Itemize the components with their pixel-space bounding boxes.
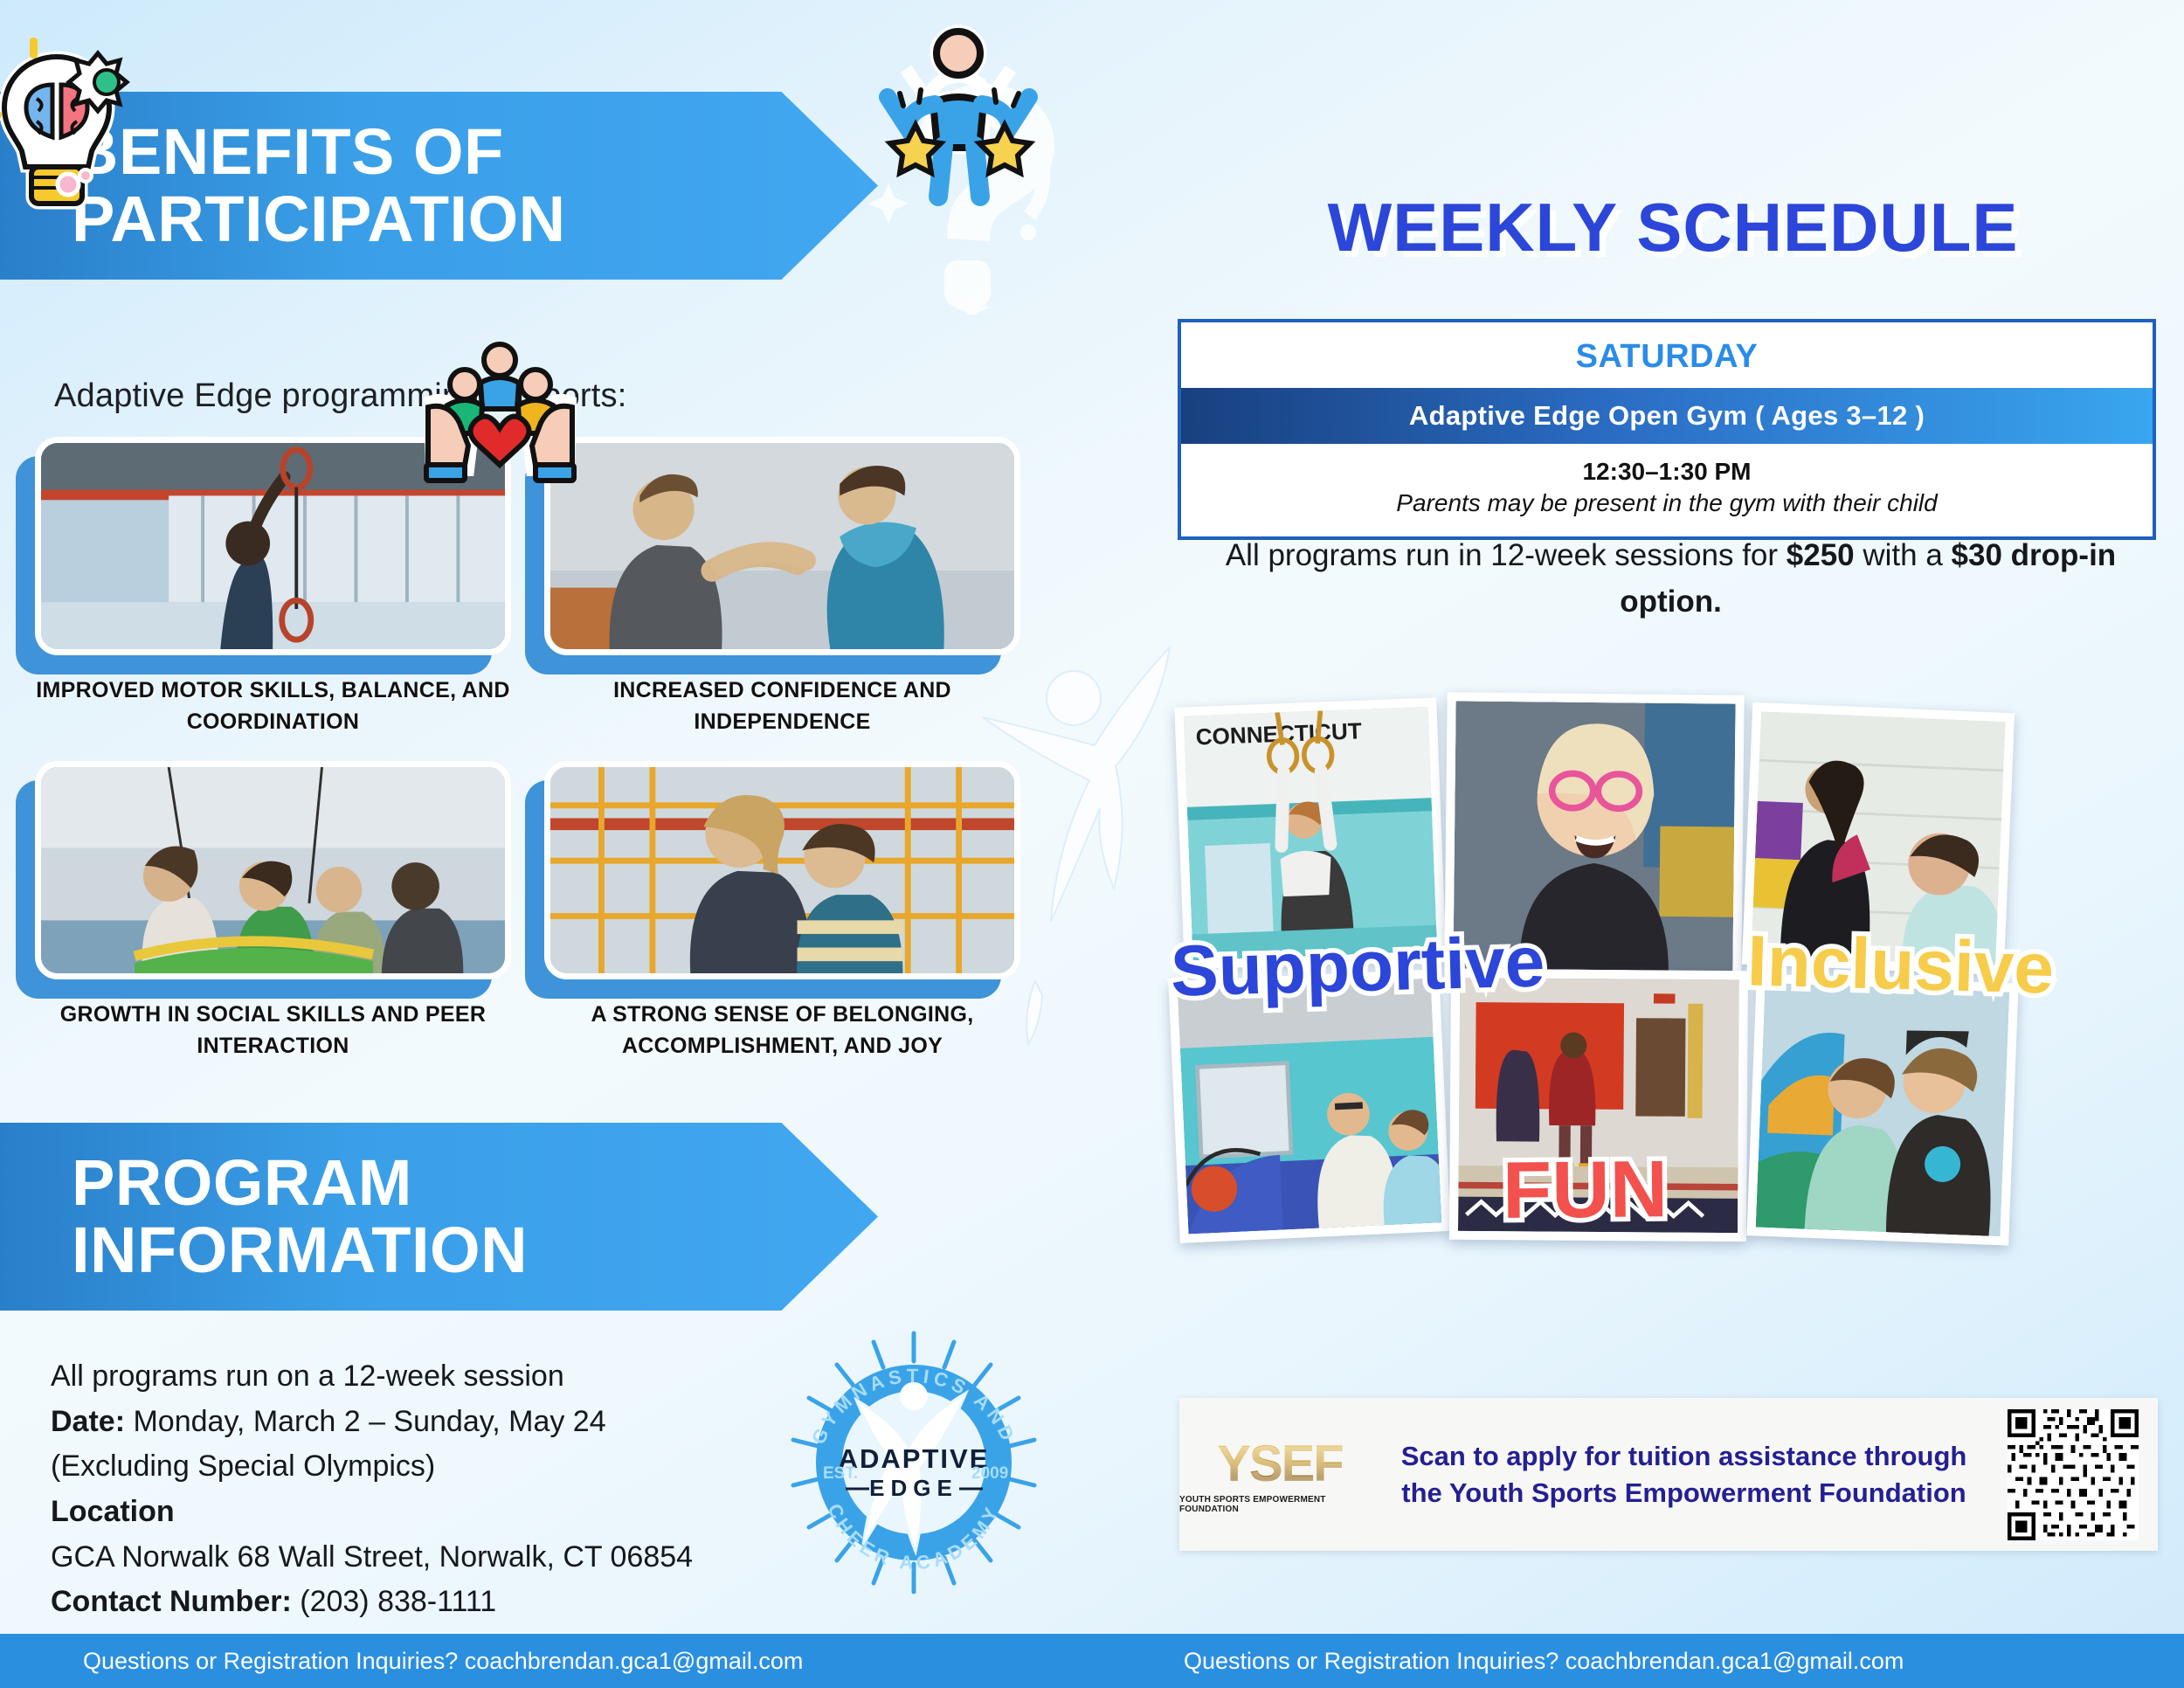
weekly-schedule-title: WEEKLY SCHEDULE	[1192, 188, 2153, 267]
collage-word-inclusive: Inclusive	[1746, 920, 2055, 1010]
ysef-logo: YSEF YOUTH SPORTS EMPOWERMENT FOUNDATION	[1179, 1435, 1380, 1514]
program-line-6: Contact Number: (203) 838-1111	[51, 1580, 819, 1625]
schedule-class-row: Adaptive Edge Open Gym ( Ages 3–12 )	[1181, 388, 2153, 444]
benefits-grid: IMPROVED MOTOR SKILLS, BALANCE, AND COOR…	[35, 437, 1048, 1084]
logo-est-label: EST.	[823, 1464, 858, 1483]
footer-contact-right: Questions or Registration Inquiries? coa…	[1184, 1648, 1904, 1675]
ysef-logo-word: YSEF	[1217, 1435, 1343, 1493]
program-line-2: Date: Monday, March 2 – Sunday, May 24	[51, 1400, 819, 1445]
pricing-text: All programs run in 12-week sessions for…	[1179, 533, 2162, 625]
program-heading-ribbon: PROGRAM INFORMATION	[0, 1123, 878, 1311]
schedule-note: Parents may be present in the gym with t…	[1181, 489, 2153, 536]
schedule-day-header: SATURDAY	[1181, 322, 2153, 388]
benefit-photo-3	[35, 761, 511, 979]
program-line-3: (Excluding Special Olympics)	[51, 1444, 819, 1490]
program-info-text: All programs run on a 12-week session Da…	[51, 1354, 819, 1625]
program-line-5: GCA Norwalk 68 Wall Street, Norwalk, CT …	[51, 1535, 819, 1581]
benefits-row-2: GROWTH IN SOCIAL SKILLS AND PEER INTERAC…	[35, 761, 1048, 1062]
schedule-time: 12:30–1:30 PM	[1181, 444, 2153, 489]
photo-collage: CONNECTICUT	[1171, 690, 2184, 1267]
collage-word-supportive: Supportive	[1170, 921, 1546, 1013]
logo-name-line2: EDGE	[869, 1475, 958, 1501]
program-line-1: All programs run on a 12-week session	[51, 1354, 819, 1400]
program-heading: PROGRAM INFORMATION	[0, 1150, 878, 1283]
collage-photo-6	[1746, 973, 2018, 1245]
benefit-card-4: A STRONG SENSE OF BELONGING, ACCOMPLISHM…	[544, 761, 1020, 1062]
benefit-caption-4: A STRONG SENSE OF BELONGING, ACCOMPLISHM…	[544, 999, 1020, 1062]
adaptive-edge-logo: ADAPTIVE EDGE EST. 2009 GYMNASTICS AND C…	[769, 1328, 1057, 1625]
footer-contact-left: Questions or Registration Inquiries? coa…	[83, 1648, 803, 1675]
benefit-caption-1: IMPROVED MOTOR SKILLS, BALANCE, AND COOR…	[35, 675, 511, 738]
schedule-table: SATURDAY Adaptive Edge Open Gym ( Ages 3…	[1178, 319, 2156, 540]
ysef-logo-subtitle: YOUTH SPORTS EMPOWERMENT FOUNDATION	[1179, 1495, 1380, 1514]
benefit-caption-2: INCREASED CONFIDENCE AND INDEPENDENCE	[544, 675, 1020, 738]
benefit-caption-3: GROWTH IN SOCIAL SKILLS AND PEER INTERAC…	[35, 999, 511, 1062]
benefit-card-2: INCREASED CONFIDENCE AND INDEPENDENCE	[544, 437, 1020, 738]
benefit-photo-4	[544, 761, 1020, 979]
pricing-part-2: $250	[1787, 538, 1855, 572]
hands-holding-people-heart-icon	[419, 341, 581, 498]
program-line-4: Location	[51, 1490, 819, 1535]
footer-bar: Questions or Registration Inquiries? coa…	[0, 1634, 2184, 1688]
pricing-part-1: All programs run in 12-week sessions for	[1226, 538, 1787, 572]
collage-word-fun: FUN	[1503, 1144, 1669, 1237]
qr-code[interactable]	[1987, 1409, 2158, 1540]
benefit-photo-2	[544, 437, 1020, 655]
left-column: BENEFITS OF PARTICIPATION Adaptive Edge …	[0, 0, 1101, 1625]
logo-name-line1: ADAPTIVE	[839, 1443, 990, 1474]
celebrating-person-stars-icon	[865, 22, 1053, 210]
logo-est-year: 2009	[971, 1464, 1008, 1483]
pricing-part-3: with a	[1855, 538, 1952, 572]
right-column: WEEKLY SCHEDULE SATURDAY Adaptive Edge O…	[1162, 0, 2184, 1625]
qr-code-icon[interactable]	[2008, 1409, 2139, 1540]
benefit-card-3: GROWTH IN SOCIAL SKILLS AND PEER INTERAC…	[35, 761, 511, 1062]
lightbulb-brain-icon	[0, 31, 140, 218]
ysef-message: Scan to apply for tuition assistance thr…	[1380, 1438, 1987, 1511]
ysef-panel: YSEF YOUTH SPORTS EMPOWERMENT FOUNDATION…	[1179, 1398, 2158, 1551]
